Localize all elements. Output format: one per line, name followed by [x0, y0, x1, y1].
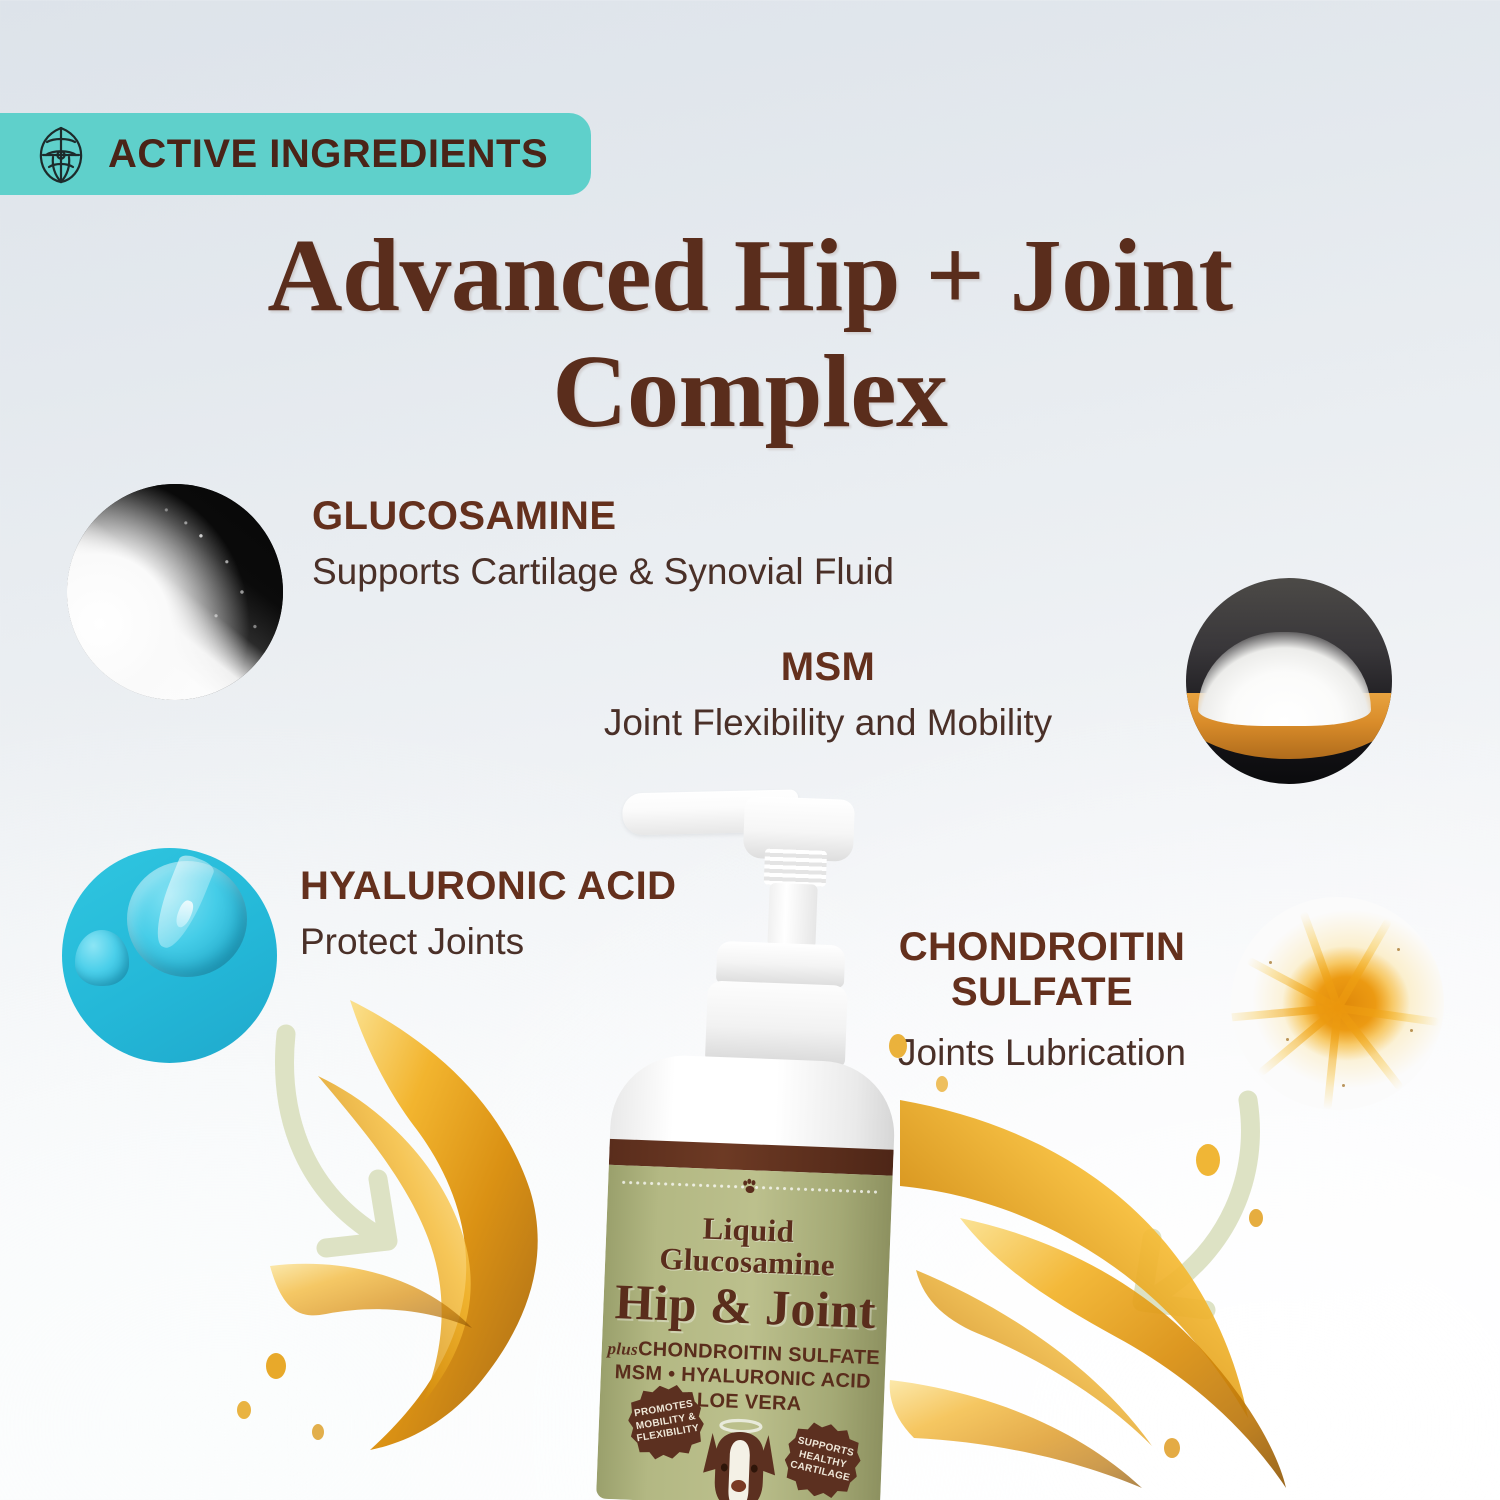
headline-line-1: Advanced Hip + Joint — [0, 218, 1500, 334]
msm-image — [1186, 578, 1392, 784]
pump-stem — [767, 883, 817, 949]
ingredient-msm: MSM Joint Flexibility and Mobility — [583, 645, 1073, 747]
glucosamine-description: Supports Cartilage & Synovial Fluid — [312, 548, 894, 596]
pump-thread — [764, 849, 827, 887]
active-ingredients-badge: ACTIVE INGREDIENTS — [0, 113, 591, 195]
product-bottle: Liquid Glucosamine Hip & Joint plusCHOND… — [588, 785, 915, 1500]
label-hip-and-joint: Hip & Joint — [603, 1275, 889, 1338]
dog-with-halo-icon — [671, 1410, 807, 1500]
arrow-right-icon — [1096, 1090, 1276, 1320]
gel-droplet-small — [75, 930, 129, 986]
pump-collar-bottom — [705, 980, 848, 1067]
ingredient-chondroitin-sulfate: CHONDROITIN SULFATE Joints Lubrication — [862, 925, 1222, 1077]
ingredient-glucosamine: GLUCOSAMINE Supports Cartilage & Synovia… — [312, 494, 894, 596]
glucosamine-name: GLUCOSAMINE — [312, 494, 894, 539]
hyaluronic-acid-image — [62, 848, 277, 1063]
bottle-label: Liquid Glucosamine Hip & Joint plusCHOND… — [596, 1165, 893, 1500]
infographic-canvas: ACTIVE INGREDIENTS Advanced Hip + Joint … — [0, 0, 1500, 1500]
chondroitin-sulfate-name: CHONDROITIN SULFATE — [862, 925, 1222, 1015]
active-ingredients-label: ACTIVE INGREDIENTS — [108, 134, 548, 174]
headline-line-2: Complex — [0, 334, 1500, 450]
msm-name: MSM — [583, 645, 1073, 690]
msm-description: Joint Flexibility and Mobility — [583, 699, 1073, 747]
leaf-molecule-icon — [36, 124, 86, 184]
msm-powder-mound — [1198, 632, 1371, 727]
arrow-left-icon — [268, 1016, 438, 1286]
glucosamine-image — [67, 484, 283, 700]
chondroitin-sulfate-description: Joints Lubrication — [862, 1029, 1222, 1077]
bottle-body: Liquid Glucosamine Hip & Joint plusCHOND… — [596, 1053, 897, 1500]
chondroitin-sulfate-image — [1231, 897, 1444, 1110]
label-text-block: Liquid Glucosamine Hip & Joint plusCHOND… — [599, 1179, 892, 1420]
page-title: Advanced Hip + Joint Complex — [0, 218, 1500, 451]
label-plus-prefix: plus — [607, 1339, 638, 1359]
